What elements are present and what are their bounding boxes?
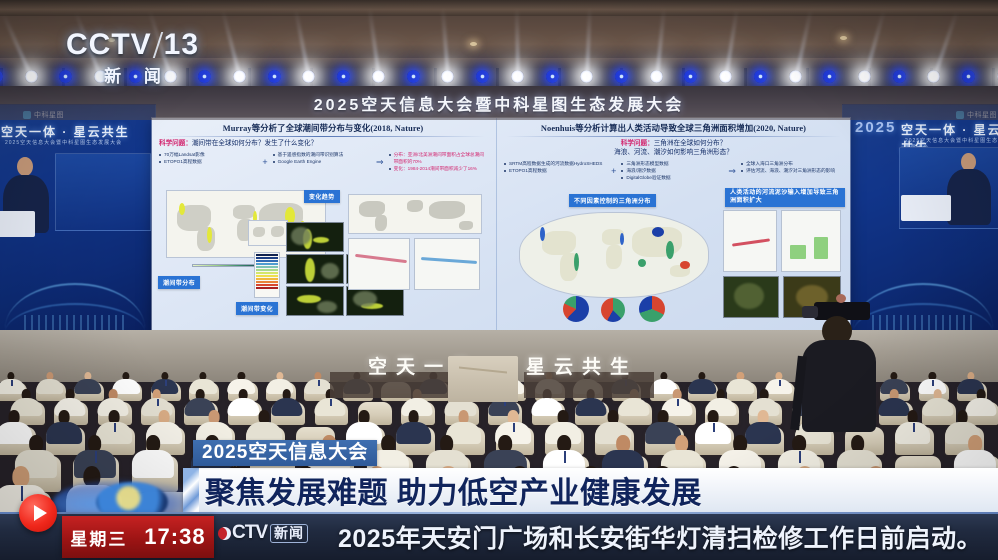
arrow-operator-icon: ⇒ xyxy=(727,166,737,177)
stage-banner-text: 2025空天信息大会暨中科星图生态发展大会 xyxy=(0,90,998,116)
list-item: 海浪/潮汐数据 xyxy=(621,168,723,175)
figure-label-human-impact: 人类活动的河流泥沙输入增加导致三角洲面积扩大 xyxy=(725,188,845,207)
audience-member xyxy=(130,435,176,473)
ticker-cctv-text: CTV xyxy=(232,522,267,544)
ticker-cctv-mark: CTV xyxy=(218,522,267,544)
world-map-inset xyxy=(248,220,288,246)
ticker-channel-logo: CTV 新闻 xyxy=(218,522,308,544)
camera-mic-icon xyxy=(836,294,846,303)
light-beam xyxy=(724,8,739,78)
science-question-tag: 科学问题： xyxy=(159,140,192,147)
audience-lanyard xyxy=(157,399,159,406)
stage-light-white xyxy=(719,70,732,83)
list-item: ETOPO1高程数据 xyxy=(159,159,257,166)
stage-light-white xyxy=(511,70,524,83)
light-beam xyxy=(794,9,813,78)
stage-light-white xyxy=(372,70,385,83)
science-question-left: 科学问题：潮间带在全球如何分布？发生了什么变化？ xyxy=(159,140,487,149)
news-ticker: 星期三 17:38 CTV 新闻 2025年天安门广场和长安街华灯清扫检修工作日… xyxy=(0,512,998,560)
stage-light-white xyxy=(789,70,802,83)
stage-light-white xyxy=(858,70,871,83)
side-screen-podium xyxy=(0,211,35,237)
audience-lanyard xyxy=(677,399,679,406)
delta-chart-right xyxy=(781,210,841,272)
stage-light-blue xyxy=(546,70,559,83)
lower-third-tag: 2025空天信息大会 xyxy=(193,440,377,466)
slide-bullet-row-right: SRTM高程数据生成的河流数据HydroSHEDS ETOPO1高程数据 + 三… xyxy=(504,161,843,181)
figure-label-trend: 变化趋势 xyxy=(304,190,340,203)
channel-number: 13 xyxy=(164,30,199,60)
audience-lanyard xyxy=(95,451,97,462)
channel-logo-top: CCTV 13 xyxy=(66,30,199,60)
audience-lanyard xyxy=(913,423,915,432)
stage-light-white xyxy=(233,70,246,83)
headline-accent-bar xyxy=(183,468,199,512)
map-legend-deltas xyxy=(523,274,559,290)
pie-chart-1 xyxy=(563,296,589,322)
result-bullets-right: 全球入海口三角洲分布 评估河流、海浪、潮汐对三角洲形态的影响 xyxy=(741,161,843,181)
method-bullets-right: 三角洲形态模型数据 海浪/潮汐数据 DigitalGlobe验证数据 xyxy=(621,161,723,181)
light-beam xyxy=(585,7,592,77)
slide-divider xyxy=(161,136,485,137)
clock-time: 17:38 xyxy=(144,524,205,550)
side-screen-speaker-body xyxy=(947,169,991,225)
map-legend xyxy=(254,252,280,298)
stage-letter: 空 xyxy=(368,352,388,380)
side-screen-sub-left: 2025空天信息大会暨中科星图生态发展大会 xyxy=(5,139,122,146)
side-screen-slogan-left: 空天一体 · 星云共生 xyxy=(1,123,130,140)
channel-subtitle: 新 闻 xyxy=(66,62,199,87)
satellite-tile xyxy=(286,254,344,284)
list-item: DigitalGlobe验证数据 xyxy=(621,175,723,182)
science-question-text: 潮间带在全球如何分布？发生了什么变化？ xyxy=(192,140,317,147)
stage-light-white xyxy=(580,70,593,83)
stage-light-blue xyxy=(615,70,628,83)
light-beam xyxy=(1,13,33,78)
list-item: 三角洲形态模型数据 xyxy=(621,161,723,168)
cctv-c-icon xyxy=(218,527,231,540)
map-colorbar xyxy=(192,264,262,267)
light-beam xyxy=(441,8,450,78)
light-beam xyxy=(368,8,381,78)
plus-operator-icon: + xyxy=(261,157,268,167)
science-question-right: 科学问题：三角洲在全球如何分布？ 海浪、河流、潮汐如何影响三角洲形态？ xyxy=(504,140,843,158)
side-led-screen-left: 中科星图 空天一体 · 星云共生 2025空天信息大会暨中科星图生态发展大会 xyxy=(0,104,156,336)
audience-lanyard xyxy=(513,423,515,432)
audience-lanyard xyxy=(330,399,332,406)
stage-light-white xyxy=(441,70,454,83)
delta-chart-left xyxy=(723,210,777,272)
audience-lanyard xyxy=(11,380,13,386)
stage-letter: 星 xyxy=(526,352,546,380)
figure-label-distribution: 潮间带分布 xyxy=(158,276,200,289)
light-beam xyxy=(933,11,960,78)
channel-name: CCTV xyxy=(66,30,152,60)
stage-light-blue xyxy=(754,70,767,83)
light-beam xyxy=(863,10,886,78)
stage-light-blue xyxy=(476,70,489,83)
side-screen-skyline-deco xyxy=(24,315,126,331)
camera-lens-icon xyxy=(802,306,818,318)
satellite-tile xyxy=(286,286,344,316)
play-icon[interactable] xyxy=(19,494,57,532)
side-screen-pip-left xyxy=(55,153,151,231)
audience-member xyxy=(245,410,284,440)
stage-light-white xyxy=(302,70,315,83)
audience-lanyard xyxy=(713,423,715,432)
method-bullets-left: 基于遥感指数的潮间带识别算法 Google Earth Engine xyxy=(273,152,371,172)
slide-panel-left: Murray等分析了全球潮间带分布与变化(2018, Nature) 科学问题：… xyxy=(152,118,494,340)
headline-text: 聚焦发展难题 助力低空产业健康发展 xyxy=(205,469,702,511)
slide-divider xyxy=(506,136,841,137)
plus-operator-icon: + xyxy=(610,166,617,176)
satellite-tile xyxy=(346,286,404,316)
satellite-tile xyxy=(286,222,344,252)
cameraman-body xyxy=(802,340,876,432)
list-item: ETOPO1高程数据 xyxy=(504,168,606,175)
stage-light-blue xyxy=(962,70,975,83)
lower-third-band: 聚焦发展难题 助力低空产业健康发展 xyxy=(183,468,998,512)
ticker-news-badge: 新闻 xyxy=(270,524,308,543)
stage-letter: 共 xyxy=(582,352,602,380)
list-item: 基于遥感指数的潮间带识别算法 xyxy=(273,152,371,159)
audience-lanyard xyxy=(799,451,801,462)
light-beam xyxy=(221,9,242,78)
stage-light-blue xyxy=(823,70,836,83)
stage-light-blue xyxy=(198,70,211,83)
pie-chart-2 xyxy=(601,298,625,322)
audience-lanyard xyxy=(779,380,781,386)
world-map-change xyxy=(348,194,482,234)
stage-letter: 云 xyxy=(554,352,574,380)
figure-label-change: 潮间带变化 xyxy=(236,302,278,315)
list-item: SRTM高程数据生成的河流数据HydroSHEDS xyxy=(504,161,606,168)
stage-podium xyxy=(448,356,518,402)
audience-lanyard xyxy=(564,451,566,462)
list-item: 分布：亚洲/北美洲潮间带面积占全球总潮间带面积的70% xyxy=(389,152,487,166)
trend-chart-decline xyxy=(348,238,410,290)
list-item: Google Earth Engine xyxy=(273,159,371,166)
audience-lanyard xyxy=(114,423,116,432)
day-of-week: 星期三 xyxy=(70,525,127,550)
audience-lanyard xyxy=(318,380,320,386)
ceiling-downlight xyxy=(840,36,847,40)
stage-letter: 生 xyxy=(610,352,630,380)
tv-broadcast-frame: 2025空天信息大会暨中科星图生态发展大会 中科星图 空天一体 · 星云共生 2… xyxy=(0,0,998,560)
stage-light-blue xyxy=(268,70,281,83)
stage-letter: 天 xyxy=(396,352,416,380)
light-beam xyxy=(655,8,666,78)
stage-light-blue xyxy=(684,70,697,83)
cameraman-operator xyxy=(790,300,910,430)
clock-box: 星期三 17:38 xyxy=(62,516,214,558)
stage-light-blue xyxy=(337,70,350,83)
ticker-headline: 2025年天安门广场和长安街华灯清扫检修工作日前启动。 xyxy=(338,520,982,554)
stage-light-blue xyxy=(0,70,3,83)
ceiling-downlight xyxy=(470,42,477,46)
list-item: 70万幅Landsat影像 xyxy=(159,152,257,159)
presentation-slide: Murray等分析了全球潮间带分布与变化(2018, Nature) 科学问题：… xyxy=(152,118,850,340)
ticker-top-rule xyxy=(0,512,998,514)
stage-light-blue xyxy=(893,70,906,83)
side-screen-year-badge: 2025 xyxy=(855,119,896,136)
science-question-text-2: 海浪、河流、潮汐如何影响三角洲形态？ xyxy=(504,149,843,158)
stage-letter: 一 xyxy=(424,352,444,380)
list-item: 评估河流、海浪、潮汐对三角洲形态的影响 xyxy=(741,168,843,175)
light-beam xyxy=(515,7,520,77)
data-bullets-left: 70万幅Landsat影像 ETOPO1高程数据 xyxy=(159,152,257,172)
stage-light-blue xyxy=(407,70,420,83)
play-triangle-icon xyxy=(34,505,47,521)
delta-satellite-tile xyxy=(723,276,779,318)
channel-divider-icon xyxy=(152,32,162,58)
figure-label-delta-distribution: 不同因素控制的三角洲分布 xyxy=(569,194,656,207)
stage-light-white xyxy=(25,70,38,83)
slide-title-right: Noenhuis等分析计算出人类活动导致全球三角洲面积增加(2020, Natu… xyxy=(504,124,843,133)
data-bullets-right: SRTM高程数据生成的河流数据HydroSHEDS ETOPO1高程数据 xyxy=(504,161,606,181)
stage-light-white xyxy=(650,70,663,83)
list-item: 变化：1984-2014潮间带面积减少了16% xyxy=(389,166,487,173)
side-screen-speaker-head xyxy=(17,157,33,176)
trend-chart-area xyxy=(414,238,480,290)
audience-lanyard xyxy=(21,486,23,500)
arrow-operator-icon: ⇒ xyxy=(375,157,385,168)
science-question-tag: 科学问题： xyxy=(621,140,654,147)
audience-body xyxy=(132,450,174,477)
slide-bullet-row-left: 70万幅Landsat影像 ETOPO1高程数据 + 基于遥感指数的潮间带识别算… xyxy=(159,152,487,172)
list-item: 全球入海口三角洲分布 xyxy=(741,161,843,168)
result-bullets-left: 分布：亚洲/北美洲潮间带面积占全球总潮间带面积的70% 变化：1984-2014… xyxy=(389,152,487,172)
light-beam xyxy=(294,8,311,77)
channel-logo: CCTV 13 新 闻 xyxy=(66,30,199,87)
pie-chart-3 xyxy=(639,296,665,322)
slide-title-left: Murray等分析了全球潮间带分布与变化(2018, Nature) xyxy=(159,124,487,133)
side-screen-podium xyxy=(901,195,951,221)
audience-lanyard xyxy=(165,380,167,386)
stage-light-white xyxy=(927,70,940,83)
science-question-text: 三角洲在全球如何分布？ xyxy=(654,140,727,147)
audience-lanyard xyxy=(932,380,934,386)
